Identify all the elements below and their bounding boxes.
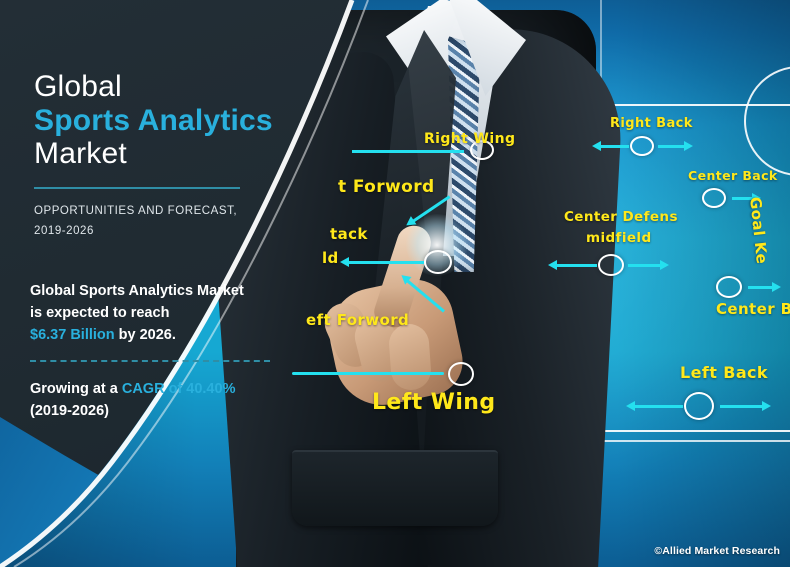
stat-line-2: is expected to reach: [30, 302, 310, 324]
title-line-global: Global: [34, 70, 304, 104]
marker-center-defensive-midfield: [598, 254, 624, 276]
stat-line-1: Global Sports Analytics Market: [30, 280, 310, 302]
marker-center-back-top: [702, 188, 726, 208]
label-midfield: ld: [322, 249, 339, 267]
suit-pocket: [292, 450, 498, 526]
title-line-market: Market: [34, 137, 304, 171]
stat-growth-line: Growing at a CAGR of 40.40%: [30, 378, 310, 400]
marker-right-back: [630, 136, 654, 156]
stats-dashed-divider: [30, 360, 270, 362]
label-right-back: Right Back: [610, 116, 693, 131]
stat-cagr: CAGR of 40.40%: [122, 381, 236, 397]
marker-center-back-lower: [716, 276, 742, 298]
label-center-back-top: Center Back: [688, 168, 778, 183]
label-center-defens: Center Defens: [564, 209, 678, 225]
label-attack: tack: [330, 225, 368, 243]
stats-block: Global Sports Analytics Market is expect…: [30, 280, 310, 422]
subtitle-forecast-line2: 2019-2026: [34, 222, 304, 242]
copyright-credit: ©Allied Market Research: [654, 545, 780, 557]
infographic-banner: Right Wing t Forword tack ld eft Forword…: [0, 0, 790, 567]
subtitle-forecast-line1: OPPORTUNITIES AND FORECAST,: [34, 202, 304, 222]
stat-period: (2019-2026): [30, 400, 310, 422]
title-line-sports-analytics: Sports Analytics: [34, 104, 304, 138]
label-left-forword: eft Forword: [306, 311, 409, 329]
stat-growth-prefix: Growing at a: [30, 381, 122, 397]
knuckle-3: [388, 323, 433, 392]
stat-value-tail: by 2026.: [115, 327, 176, 343]
label-left-wing: Left Wing: [372, 390, 496, 415]
label-right-forword: t Forword: [338, 177, 435, 197]
marker-left-back: [684, 392, 714, 420]
stat-value: $6.37 Billion: [30, 327, 115, 343]
marker-left-wing: [448, 362, 474, 386]
marker-active-player[interactable]: [424, 250, 452, 274]
title-block: Global Sports Analytics Market OPPORTUNI…: [34, 70, 304, 241]
label-left-back: Left Back: [680, 363, 768, 382]
label-right-wing: Right Wing: [424, 131, 515, 147]
pitch-arc: [744, 66, 790, 176]
label-center-defens-midfield: midfield: [586, 230, 652, 246]
stat-line-3: $6.37 Billion by 2026.: [30, 324, 310, 346]
label-center-back-lower: Center Ba: [716, 300, 790, 318]
title-divider: [34, 187, 240, 189]
